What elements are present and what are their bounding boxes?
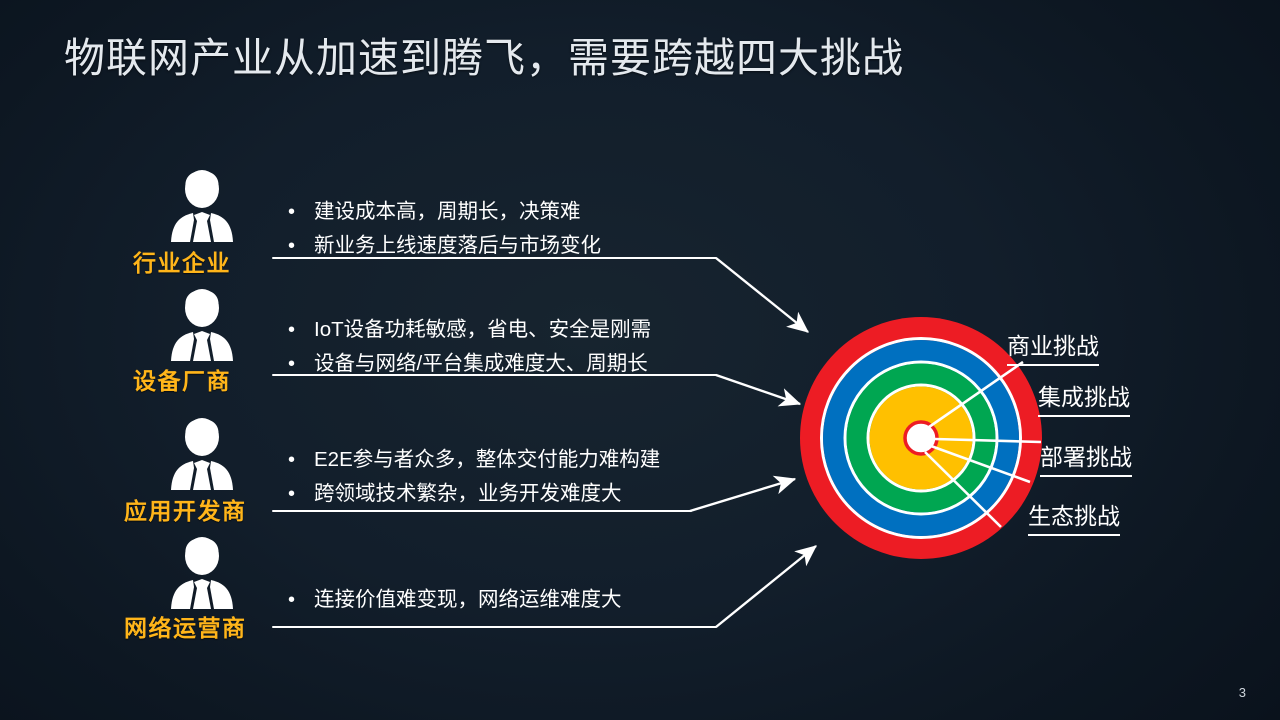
row-underline <box>272 626 717 628</box>
bullet-text: 建设成本高，周期长，决策难 <box>314 200 581 223</box>
row-underline <box>272 257 717 259</box>
bullet-text: 新业务上线速度落后与市场变化 <box>314 234 601 257</box>
row-underline <box>272 374 717 376</box>
stakeholder-bullets: •建设成本高，周期长，决策难 •新业务上线速度落后与市场变化 <box>288 195 601 263</box>
stakeholder-bullets: •E2E参与者众多，整体交付能力难构建 •跨领域技术繁杂，业务开发难度大 <box>288 443 660 511</box>
stakeholder-role-label: 网络运营商 <box>124 609 247 643</box>
stakeholder-bullets: •IoT设备功耗敏感，省电、安全是刚需 •设备与网络/平台集成难度大、周期长 <box>288 313 651 381</box>
page-number: 3 <box>1239 685 1246 700</box>
businessman-icon <box>163 168 241 252</box>
stakeholder-role-label: 应用开发商 <box>124 492 247 526</box>
bullet-dot: • <box>288 196 314 229</box>
page-title: 物联网产业从加速到腾飞，需要跨越四大挑战 <box>64 33 904 84</box>
challenge-label-commercial: 商业挑战 <box>1007 327 1099 366</box>
bullet-text: IoT设备功耗敏感，省电、安全是刚需 <box>314 318 651 341</box>
businessman-icon <box>163 416 241 500</box>
challenge-label-deployment: 部署挑战 <box>1040 438 1132 477</box>
bullet-text: 设备与网络/平台集成难度大、周期长 <box>314 352 648 375</box>
stakeholder-role-label: 设备厂商 <box>133 362 231 396</box>
challenge-label-integration: 集成挑战 <box>1038 378 1130 417</box>
row-underline <box>272 510 692 512</box>
bullet-dot: • <box>288 444 314 477</box>
slide-canvas: 物联网产业从加速到腾飞，需要跨越四大挑战 行业企业 <box>0 0 1280 720</box>
bullet-text: E2E参与者众多，整体交付能力难构建 <box>314 448 660 471</box>
bullet-dot: • <box>288 584 314 617</box>
stakeholder-role-label: 行业企业 <box>133 244 231 278</box>
bullet-text: 跨领域技术繁杂，业务开发难度大 <box>314 482 622 505</box>
challenge-label-ecosystem: 生态挑战 <box>1028 497 1120 536</box>
stakeholder-bullets: •连接价值难变现，网络运维难度大 <box>288 583 622 617</box>
stakeholder-row-4: 网络运营商 •连接价值难变现，网络运维难度大 <box>0 0 760 1</box>
bullet-item: •E2E参与者众多，整体交付能力难构建 <box>288 443 660 477</box>
bullet-item: •连接价值难变现，网络运维难度大 <box>288 583 622 617</box>
bullet-item: •跨领域技术繁杂，业务开发难度大 <box>288 477 660 511</box>
businessman-icon <box>163 535 241 619</box>
bullet-dot: • <box>288 314 314 347</box>
bullet-item: •IoT设备功耗敏感，省电、安全是刚需 <box>288 313 651 347</box>
bullet-dot: • <box>288 348 314 381</box>
businessman-icon <box>163 287 241 371</box>
bullet-item: •建设成本高，周期长，决策难 <box>288 195 601 229</box>
bullet-dot: • <box>288 478 314 511</box>
bullet-text: 连接价值难变现，网络运维难度大 <box>314 588 622 611</box>
